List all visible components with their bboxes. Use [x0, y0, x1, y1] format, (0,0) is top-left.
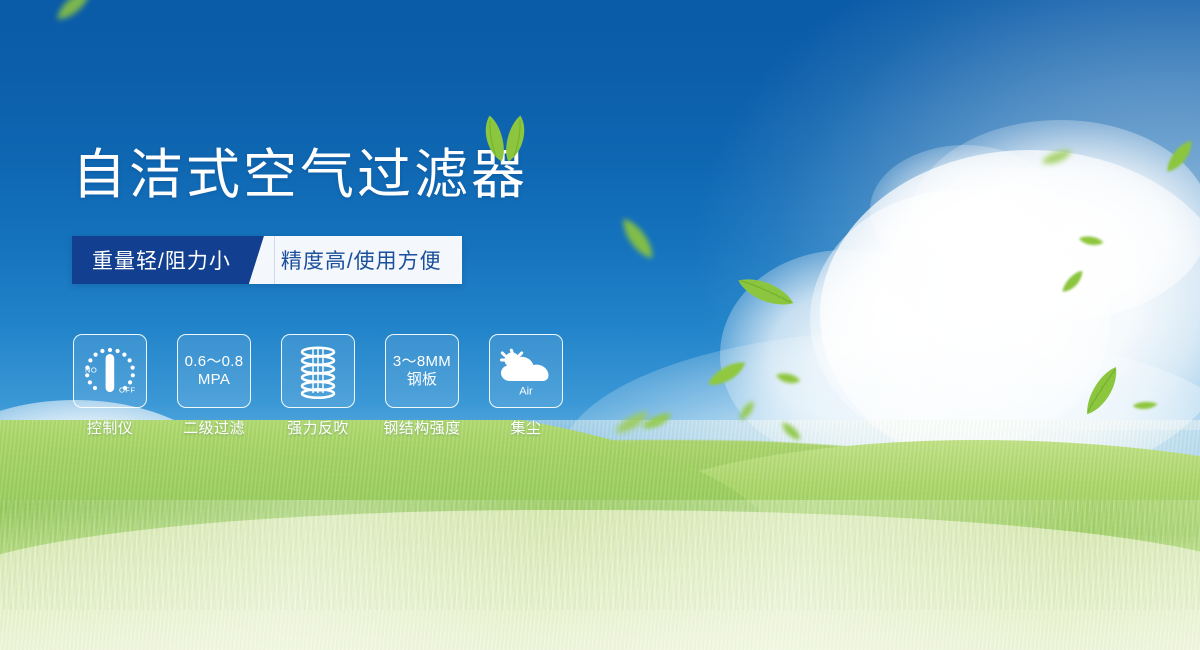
product-banner: 自洁式空气过滤器 重量轻/阻力小 精度高/使用方便 [0, 0, 1200, 650]
feature-text-line-1: 0.6～0.8 [185, 353, 244, 371]
feature-caption: 强力反吹 [287, 417, 349, 438]
feature-icon-box [281, 334, 355, 408]
tagline-left: 重量轻/阻力小 [72, 236, 249, 284]
feature-item[interactable]: NO OFF 控制仪 [72, 334, 148, 438]
feature-text-line-1: 3～8MM [393, 353, 451, 371]
feature-caption: 集尘 [510, 417, 541, 438]
feature-item[interactable]: Air 集尘 [488, 334, 564, 438]
page-title: 自洁式空气过滤器 [72, 148, 528, 202]
gauge-dial-icon: NO OFF [79, 342, 141, 400]
feature-caption: 钢结构强度 [383, 417, 461, 438]
feature-caption: 二级过滤 [183, 417, 245, 438]
cloud-air-icon: Air [496, 345, 556, 397]
feature-icon-box: 3～8MM 钢板 [385, 334, 459, 408]
svg-text:NO: NO [85, 366, 97, 375]
feature-icon-box: NO OFF [73, 334, 147, 408]
feature-icon-box: Air [489, 334, 563, 408]
svg-text:Air: Air [519, 386, 533, 398]
svg-text:OFF: OFF [119, 386, 135, 395]
feature-item[interactable]: 强力反吹 [280, 334, 356, 438]
field-sheen [0, 500, 1200, 650]
feature-item[interactable]: 3～8MM 钢板 钢结构强度 [384, 334, 460, 438]
feature-text-line-2: MPA [198, 371, 230, 389]
title-sprout-leaves-icon [470, 112, 540, 162]
tagline-divider [249, 236, 275, 284]
feature-list: NO OFF 控制仪 0.6～0.8 MPA 二级过滤 [72, 334, 564, 438]
filter-cartridge-icon [291, 343, 345, 399]
feature-text-line-2: 钢板 [407, 371, 438, 389]
feature-caption: 控制仪 [87, 417, 134, 438]
grass-field [0, 420, 1200, 650]
tagline-right: 精度高/使用方便 [275, 236, 462, 284]
tagline-bar: 重量轻/阻力小 精度高/使用方便 [72, 236, 462, 284]
feature-icon-box: 0.6～0.8 MPA [177, 334, 251, 408]
feature-item[interactable]: 0.6～0.8 MPA 二级过滤 [176, 334, 252, 438]
sky-haze [580, 0, 1200, 430]
